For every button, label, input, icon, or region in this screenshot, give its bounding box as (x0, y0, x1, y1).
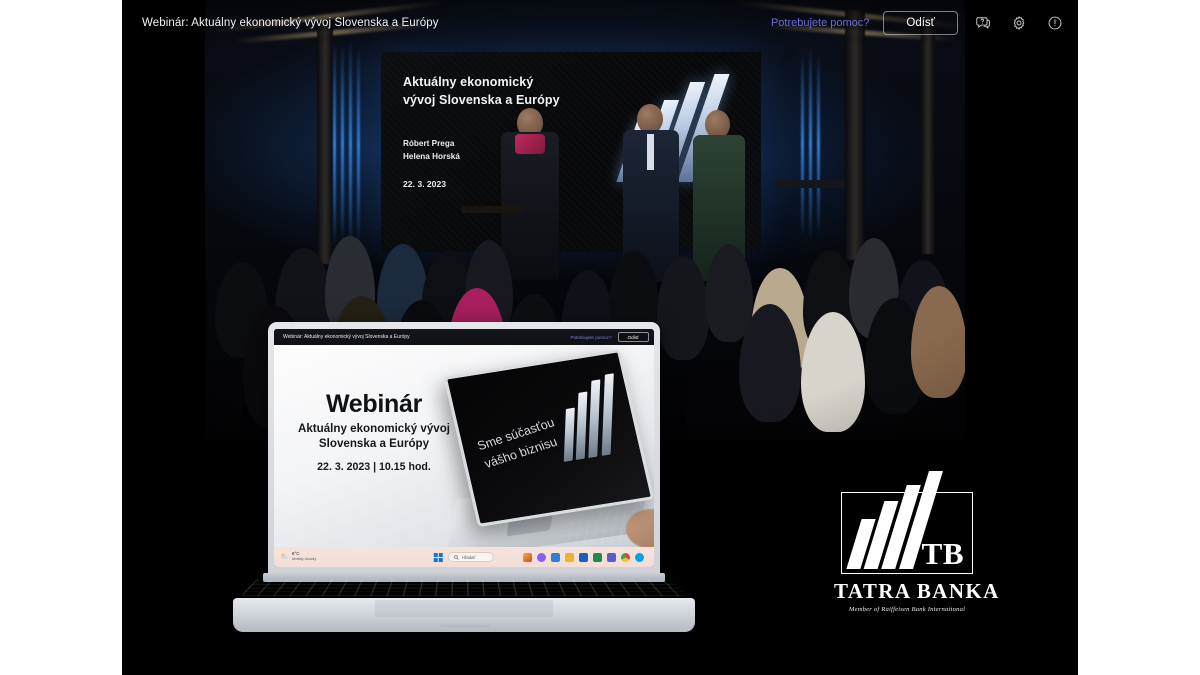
nested-slide-headline: Webinár Aktuálny ekonomický vývoj Sloven… (288, 391, 460, 473)
nested-leave-button: Odísť (618, 332, 649, 342)
search-icon (454, 555, 459, 560)
nested-webinar-header: Webinár: Aktuálny ekonomický vývoj Slove… (274, 329, 654, 345)
venue-column (921, 14, 935, 254)
info-circle-icon[interactable] (1044, 12, 1066, 34)
photo-laptop-lid: Sme súčasťou vášho biznisu (444, 349, 654, 527)
venue-column (317, 24, 333, 264)
webinar-player-viewport: Aktuálny ekonomický vývoj Slovenska a Eu… (122, 0, 1078, 675)
chat-question-icon[interactable] (972, 12, 994, 34)
taskbar-app-chrome (621, 553, 630, 562)
laptop-screen: Webinár: Aktuálny ekonomický vývoj Slove… (274, 329, 654, 567)
gear-icon[interactable] (1008, 12, 1030, 34)
stage-slide-date: 22. 3. 2023 (403, 179, 446, 189)
laptop-notch (439, 623, 491, 627)
taskbar-app-explorer (565, 553, 574, 562)
help-link[interactable]: Potrebujete pomoc? (771, 17, 869, 29)
tatra-banka-tagline: Member of Raiffeisen Bank International (834, 606, 980, 613)
stage-slide-title-line2: vývoj Slovenska a Európy (403, 92, 613, 110)
screenshot-root: Aktuálny ekonomický vývoj Slovenska a Eu… (0, 0, 1200, 675)
nested-subheading-line2: Slovenska a Európy (288, 437, 460, 452)
photo-tilted-laptop: Sme súčasťou vášho biznisu (450, 361, 654, 549)
led-wall-stripe (341, 44, 344, 244)
taskbar-weather-widget: 8°C Mostly cloudy (280, 552, 316, 561)
taskbar-app-icons (523, 553, 644, 562)
venue-table (775, 180, 845, 188)
tatra-banka-logo-mark: TB (841, 492, 973, 574)
led-wall-stripe (809, 46, 812, 242)
taskbar-center-group: Hľadať (434, 552, 494, 562)
taskbar-app-store (551, 553, 560, 562)
stage-slide-speakers: Róbert Prega Helena Horská (403, 138, 460, 163)
taskbar-app-chat (537, 553, 546, 562)
page-title: Webinár: Aktuálny ekonomický vývoj Slove… (142, 17, 439, 29)
nested-help-link: Potrebujete pomoc? (570, 335, 611, 340)
taskbar-search-box: Hľadať (448, 552, 494, 562)
nested-subheading-line1: Aktuálny ekonomický vývoj (288, 422, 460, 437)
nested-header-actions: Potrebujete pomoc? Odísť (570, 332, 649, 342)
led-wall-stripe (349, 38, 352, 252)
nested-slide-datetime: 22. 3. 2023 | 10.15 hod. (288, 461, 460, 473)
taskbar-weather-text: 8°C Mostly cloudy (292, 552, 316, 561)
header-actions: Potrebujete pomoc? Odísť (771, 11, 1066, 35)
audience-member (911, 286, 965, 398)
stage-slide-speaker-2: Helena Horská (403, 151, 460, 164)
taskbar-app-paint (523, 553, 532, 562)
led-wall-stripe (357, 46, 360, 244)
taskbar-app-excel (593, 553, 602, 562)
venue-column (845, 10, 865, 260)
tatra-banka-initials: TB (922, 538, 964, 569)
webinar-header-bar: Webinár: Aktuálny ekonomický vývoj Slove… (122, 0, 1078, 46)
taskbar-app-word (579, 553, 588, 562)
taskbar-app-skype (635, 553, 644, 562)
led-wall-stripe (333, 40, 336, 250)
tatra-banka-logo: TB TATRA BANKA Member of Raiffeisen Bank… (834, 492, 980, 613)
laptop-trackpad (375, 600, 553, 617)
led-wall-stripe (817, 54, 820, 236)
leave-button[interactable]: Odísť (883, 11, 958, 35)
stage-slide-title-line1: Aktuálny ekonomický (403, 74, 613, 92)
weather-description: Mostly cloudy (292, 557, 316, 561)
laptop-mockup-overlay: Webinár: Aktuálny ekonomický vývoj Slove… (215, 322, 715, 642)
stage-slide-title: Aktuálny ekonomický vývoj Slovenska a Eu… (403, 74, 613, 110)
cloud-icon (280, 552, 289, 561)
taskbar-search-label: Hľadať (462, 555, 475, 560)
nested-page-title: Webinár: Aktuálny ekonomický vývoj Slove… (283, 334, 410, 340)
taskbar-app-teams (607, 553, 616, 562)
tatra-banka-name: TATRA BANKA (834, 579, 980, 604)
led-wall-stripe (801, 52, 804, 238)
nested-slide-subheading: Aktuálny ekonomický vývoj Slovenska a Eu… (288, 422, 460, 451)
stage-slide-speaker-1: Róbert Prega (403, 138, 460, 151)
laptop-keyboard (241, 579, 687, 596)
photo-laptop-tagline: Sme súčasťou vášho biznisu (475, 413, 565, 474)
windows-taskbar: 8°C Mostly cloudy Hľadať (274, 547, 654, 567)
venue-table (461, 206, 523, 213)
laptop-lid: Webinár: Aktuálny ekonomický vývoj Slove… (268, 322, 660, 575)
nested-slide-content: Sme súčasťou vášho biznisu Webinár (274, 345, 654, 549)
nested-slide-heading: Webinár (288, 391, 460, 417)
windows-start-icon (434, 553, 443, 562)
